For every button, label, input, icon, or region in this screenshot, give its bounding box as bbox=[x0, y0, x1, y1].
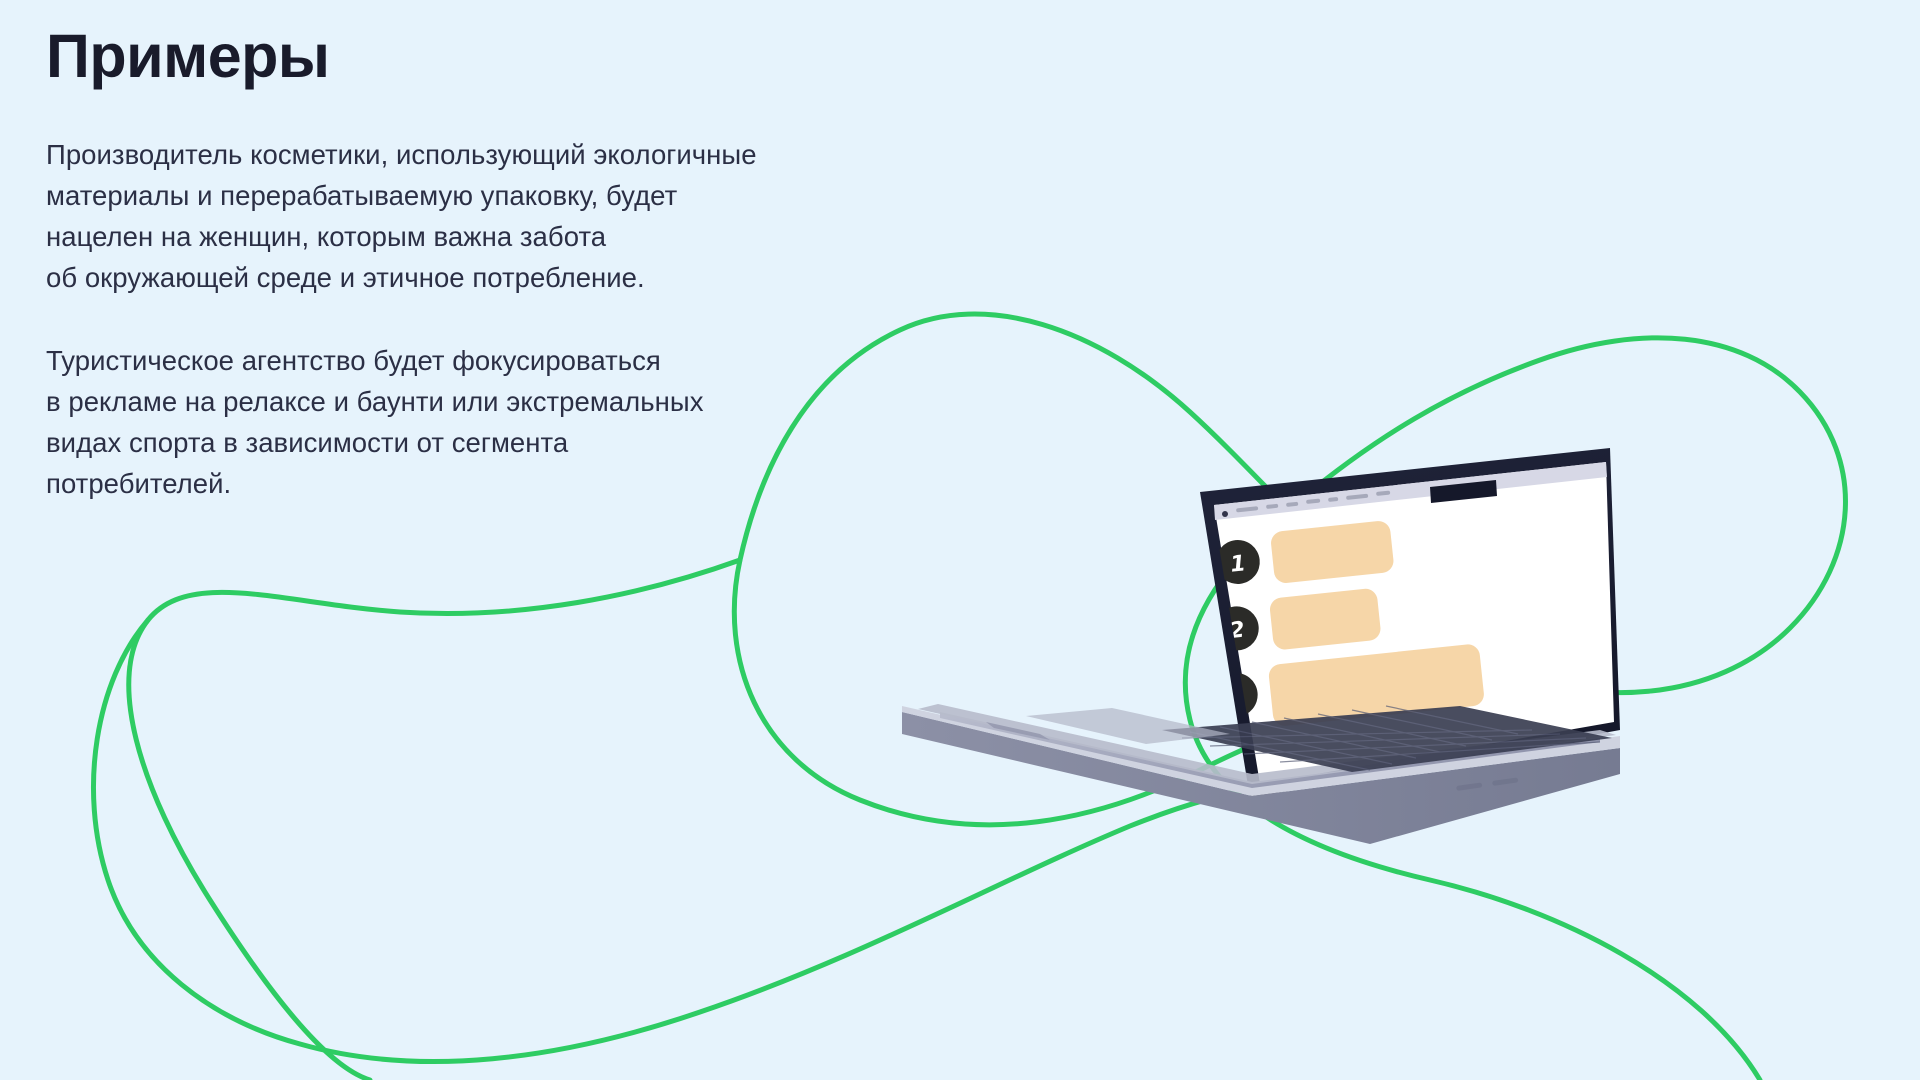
browser-dot-icon bbox=[1222, 511, 1228, 517]
slide-root: Примеры Производитель косметики, использ… bbox=[0, 0, 1920, 1080]
paragraph-cosmetics-example: Производитель косметики, использующий эк… bbox=[46, 134, 1226, 298]
laptop-svg: 1 2 3 bbox=[900, 430, 1620, 1050]
step-badge-1-label: 1 bbox=[1229, 551, 1247, 577]
page-title: Примеры bbox=[46, 22, 1226, 90]
ribbon-path-left-upper bbox=[129, 560, 740, 1080]
laptop-base bbox=[902, 704, 1620, 844]
laptop-illustration: 1 2 3 bbox=[900, 430, 1620, 1050]
